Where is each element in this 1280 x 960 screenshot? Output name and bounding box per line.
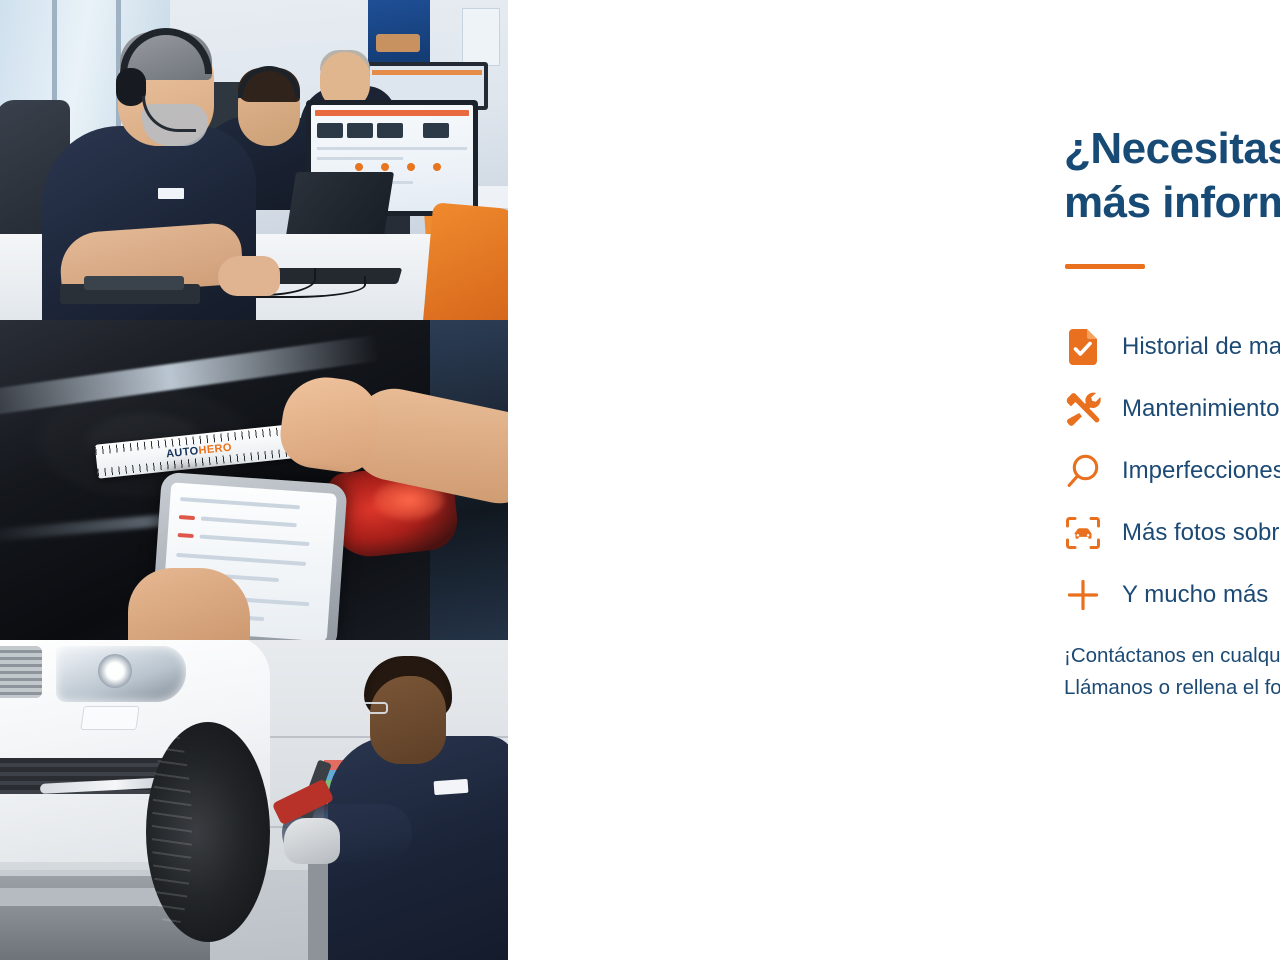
plus-icon xyxy=(1064,576,1102,614)
desk-notebook xyxy=(84,276,184,290)
car-headlight xyxy=(56,646,186,702)
photo-column: AUTOHERO xyxy=(0,0,508,960)
screen-icon-dot xyxy=(355,163,363,171)
photo-wheel-service xyxy=(0,640,508,960)
feature-label: Más fotos sobre el coche xyxy=(1122,521,1280,545)
car-scan-frame-icon xyxy=(1064,514,1102,552)
feature-item-more-photos[interactable]: Más fotos sobre el coche xyxy=(1064,502,1280,564)
tablet-row xyxy=(180,497,300,509)
feature-item-maintenance-history[interactable]: Historial de mantenimientos xyxy=(1064,316,1280,378)
screen-car-thumb xyxy=(377,123,403,138)
uniform-logo xyxy=(158,188,184,199)
title-underline-rule xyxy=(1065,264,1145,269)
mechanic-head xyxy=(370,676,446,764)
screen-icon-dot xyxy=(433,163,441,171)
tablet-row xyxy=(176,553,306,566)
feature-label: Mantenimiento realizado xyxy=(1122,397,1280,421)
screen-row xyxy=(317,157,403,160)
screen-icon-dot xyxy=(407,163,415,171)
photo-call-center xyxy=(0,0,508,320)
license-plate-blank xyxy=(80,706,139,730)
tools-wrench-screwdriver-icon xyxy=(1064,390,1102,428)
mechanic-glove xyxy=(284,818,340,864)
inspector-hand xyxy=(276,372,384,476)
inspector-hand-holding-tablet xyxy=(128,568,250,640)
content-panel: ¿Necesitas más información? xyxy=(508,0,1280,960)
feature-item-much-more[interactable]: Y mucho más xyxy=(1064,564,1280,626)
page-title: ¿Necesitas más información? xyxy=(1064,122,1280,229)
orange-chair xyxy=(423,202,508,320)
tablet-row xyxy=(200,535,310,547)
feature-item-maintenance-done[interactable]: Mantenimiento realizado xyxy=(1064,378,1280,440)
contact-paragraph-line-2: Llámanos o rellena el formulario de cont… xyxy=(1064,672,1280,704)
magnifier-icon xyxy=(1064,452,1102,490)
tablet-accent xyxy=(178,533,194,538)
screen-row xyxy=(317,147,467,150)
contact-paragraph-line-1: ¡Contáctanos en cualquier momento para m… xyxy=(1064,640,1280,672)
wall-poster-blue xyxy=(368,0,430,62)
page-title-line-2: más información? xyxy=(1064,176,1280,230)
tablet-accent xyxy=(179,515,195,520)
tyre-tread xyxy=(152,730,192,932)
document-check-icon xyxy=(1064,328,1102,366)
car-grille xyxy=(0,646,42,698)
uniform-logo xyxy=(434,779,469,795)
screen-car-thumb xyxy=(317,123,343,138)
feature-label: Y mucho más xyxy=(1122,583,1268,607)
mechanic-glasses xyxy=(362,702,388,714)
feature-label: Historial de mantenimientos xyxy=(1122,335,1280,359)
screen-icon-dot xyxy=(381,163,389,171)
screen-header-bar xyxy=(315,110,469,116)
agent-hand xyxy=(218,256,280,296)
photo-car-inspection: AUTOHERO xyxy=(0,320,508,640)
feature-item-imperfections[interactable]: Imperfecciones xyxy=(1064,440,1280,502)
promo-page: AUTOHERO xyxy=(0,0,1280,960)
screen-car-thumb xyxy=(347,123,373,138)
contact-paragraph: ¡Contáctanos en cualquier momento para m… xyxy=(1064,640,1280,705)
page-title-line-1: ¿Necesitas xyxy=(1064,122,1280,176)
feature-list: Historial de mantenimientos Mantenimient… xyxy=(1064,316,1280,626)
feature-label: Imperfecciones xyxy=(1122,459,1280,483)
wall-poster-small xyxy=(462,8,500,66)
tablet-row xyxy=(201,517,297,528)
screen-car-thumb xyxy=(423,123,449,138)
